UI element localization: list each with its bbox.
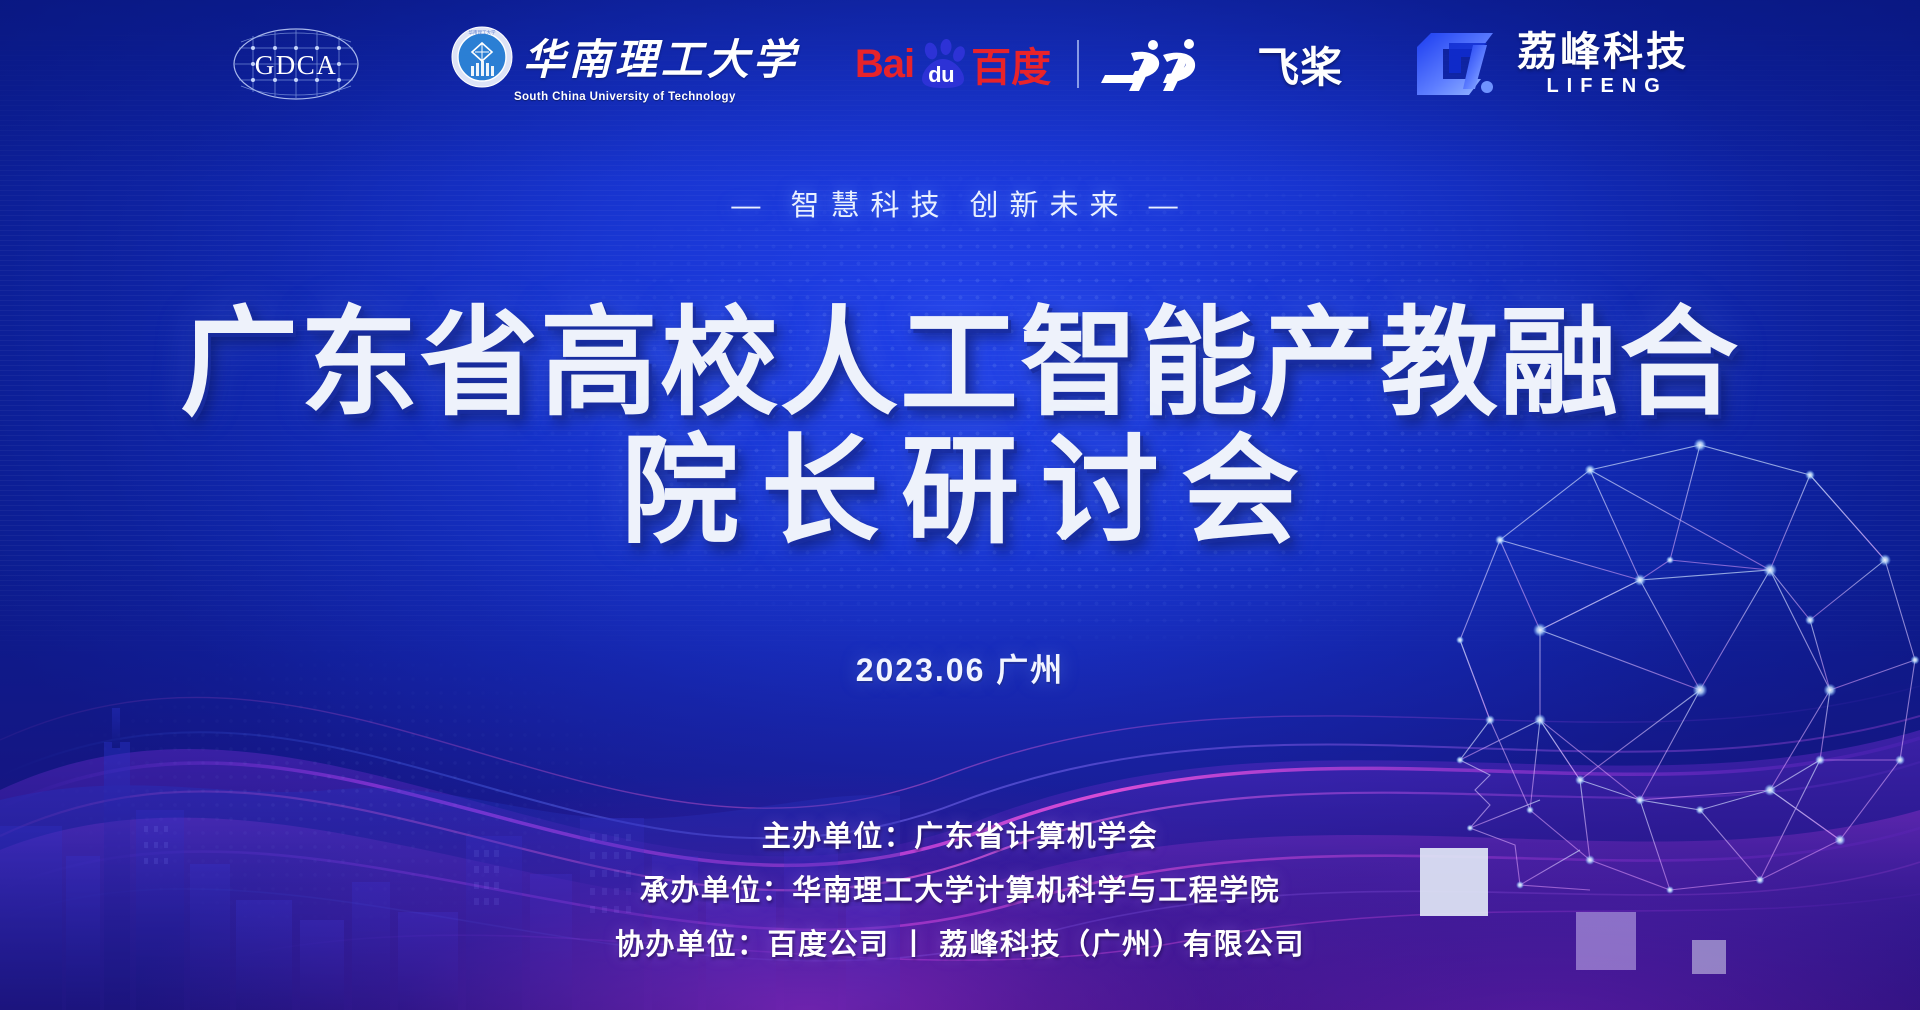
scut-logo-en: South China University of Technology (514, 91, 736, 103)
banner-title: 广东省高校人工智能产教融合 院长研讨会 (0, 300, 1920, 556)
sponsor-logo-bar: GDCA 华南理工大学 (0, 0, 1920, 128)
logo-divider (1077, 40, 1079, 88)
scut-seal-icon: 华南理工大学 (451, 26, 513, 88)
lifeng-mark-icon (1409, 27, 1501, 101)
banner-title-line-2: 院长研讨会 (0, 428, 1920, 556)
organizer-list: 主办单位：广东省计算机学会 承办单位：华南理工大学计算机科学与工程学院 协办单位… (0, 810, 1920, 972)
conference-banner: GDCA 华南理工大学 (0, 0, 1920, 1010)
organizer-line-host: 主办单位：广东省计算机学会 (0, 810, 1920, 864)
baidu-logo: Bai du 百度 (855, 35, 1051, 93)
banner-date-location: 2023.06 广州 (0, 645, 1920, 691)
gdca-logo: GDCA (231, 26, 451, 102)
lifeng-logo-cn: 荔峰科技 (1517, 31, 1689, 73)
baidu-logo-cn: 百度 (971, 35, 1051, 93)
lifeng-logo-en: LIFENG (1546, 75, 1667, 98)
paddlepaddle-mark-icon (1101, 35, 1251, 93)
gdca-globe-icon: GDCA (231, 26, 361, 102)
svg-text:华南理工大学: 华南理工大学 (468, 29, 495, 36)
organizer-line-co-host: 协办单位：百度公司 丨 荔峰科技（广州）有限公司 (0, 918, 1920, 972)
baidu-paw-icon: du (916, 39, 970, 89)
lifeng-logo: 荔峰科技 LIFENG (1409, 27, 1689, 101)
baidu-logo-bai: Bai (855, 42, 914, 87)
paddlepaddle-logo: 飞桨 (1101, 34, 1343, 95)
paddlepaddle-logo-cn: 飞桨 (1257, 34, 1343, 95)
banner-tagline: — 智慧科技 创新未来 — (0, 182, 1920, 224)
banner-title-line-1: 广东省高校人工智能产教融合 (0, 300, 1920, 428)
scut-logo-cn: 华南理工大学 (523, 26, 799, 87)
gdca-logo-text: GDCA (255, 50, 338, 80)
scut-logo: 华南理工大学 华南理工大学 South China University of … (451, 26, 799, 103)
baidu-logo-du: du (928, 62, 954, 88)
organizer-line-undertaker: 承办单位：华南理工大学计算机科学与工程学院 (0, 864, 1920, 918)
